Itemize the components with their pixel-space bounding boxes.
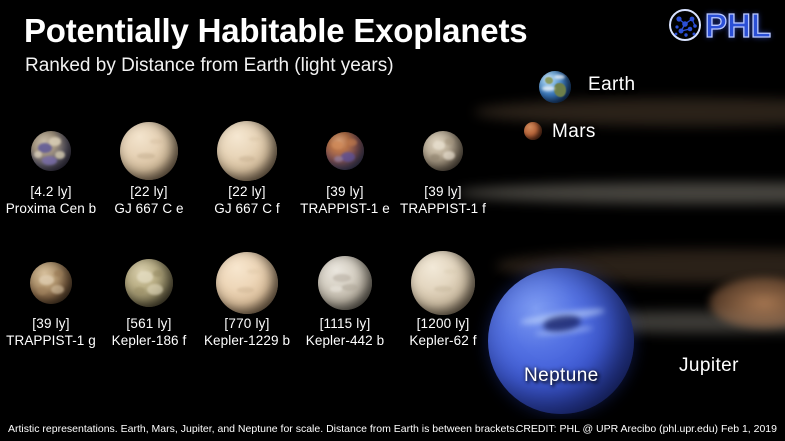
exoplanet-cell: [561 ly]Kepler-186 f xyxy=(100,250,198,349)
exoplanet-cell: [1115 ly]Kepler-442 b xyxy=(296,250,394,349)
infographic-canvas: Earth Mars Neptune Jupiter Potentially H… xyxy=(0,0,785,441)
exoplanet-sphere xyxy=(318,256,372,310)
exoplanet-surface-speck xyxy=(150,139,163,144)
exoplanet-cell: [4.2 ly]Proxima Cen b xyxy=(2,118,100,217)
exoplanet-distance-label: [1115 ly] xyxy=(296,316,394,332)
footer-credit: CREDIT: PHL @ UPR Arecibo (phl.upr.edu) … xyxy=(516,423,777,435)
exoplanet-surface-speck xyxy=(247,269,261,274)
page-title: Potentially Habitable Exoplanets xyxy=(24,12,527,50)
exoplanet-distance-label: [39 ly] xyxy=(2,316,100,332)
exoplanet-sphere-wrap xyxy=(296,118,394,184)
earth-landmass-1 xyxy=(554,83,566,96)
exoplanet-surface-speck xyxy=(239,156,256,162)
exoplanet-sphere-wrap xyxy=(394,250,492,316)
exoplanet-name-label: GJ 667 C e xyxy=(100,200,198,217)
exoplanet-sphere-wrap xyxy=(198,118,296,184)
footer-note: Artistic representations. Earth, Mars, J… xyxy=(8,423,517,435)
exoplanet-surface-speck xyxy=(330,286,342,291)
exoplanet-sphere xyxy=(31,131,71,171)
exoplanet-distance-label: [22 ly] xyxy=(198,184,296,200)
exoplanet-cell: [39 ly]TRAPPIST-1 f xyxy=(394,118,492,217)
exoplanet-surface-speck xyxy=(153,270,164,278)
exoplanet-sphere-wrap xyxy=(198,250,296,316)
exoplanet-name-label: GJ 667 C f xyxy=(198,200,296,217)
page-subtitle: Ranked by Distance from Earth (light yea… xyxy=(25,55,394,77)
exoplanet-sphere xyxy=(125,259,173,307)
earth-landmass-2 xyxy=(545,77,553,84)
phl-logo[interactable]: PHL xyxy=(668,8,771,42)
exoplanet-surface-speck xyxy=(34,151,42,158)
exoplanet-distance-label: [4.2 ly] xyxy=(2,184,100,200)
exoplanet-distance-label: [561 ly] xyxy=(100,316,198,332)
earth-cloud-1 xyxy=(542,86,555,91)
exoplanet-surface-speck xyxy=(333,274,351,282)
jupiter-band-2 xyxy=(457,182,785,204)
exoplanet-sphere xyxy=(120,122,178,180)
exoplanet-surface-speck xyxy=(49,137,61,146)
exoplanet-surface-speck xyxy=(39,275,53,285)
exoplanet-sphere-wrap xyxy=(296,250,394,316)
exoplanet-surface-speck xyxy=(434,286,452,292)
exoplanet-sphere xyxy=(411,251,475,315)
exoplanet-surface-speck xyxy=(445,138,454,144)
exoplanet-sphere xyxy=(216,252,278,314)
exoplanet-cell: [770 ly]Kepler-1229 b xyxy=(198,250,296,349)
exoplanet-cell: [1200 ly]Kepler-62 f xyxy=(394,250,492,349)
scale-label-jupiter: Jupiter xyxy=(679,355,739,377)
exoplanet-name-label: Kepler-442 b xyxy=(296,332,394,349)
exoplanet-sphere xyxy=(30,262,72,304)
exoplanet-cell: [22 ly]GJ 667 C e xyxy=(100,118,198,217)
exoplanet-surface-speck xyxy=(342,284,358,290)
jupiter-band-1 xyxy=(474,98,785,126)
exoplanet-surface-speck xyxy=(147,284,163,296)
exoplanet-surface-speck xyxy=(347,139,357,146)
exoplanet-sphere-wrap xyxy=(394,118,492,184)
exoplanet-surface-speck xyxy=(37,287,47,295)
mars-sphere xyxy=(524,122,542,140)
earth-cloud-2 xyxy=(554,75,565,79)
exoplanet-surface-speck xyxy=(55,151,65,159)
exoplanet-sphere xyxy=(326,132,364,170)
exoplanet-surface-speck xyxy=(42,156,56,165)
exoplanet-sphere-wrap xyxy=(100,118,198,184)
scale-label-mars: Mars xyxy=(552,121,596,143)
exoplanet-surface-speck xyxy=(137,271,153,283)
neptune-sphere xyxy=(488,268,634,414)
exoplanet-surface-speck xyxy=(444,269,458,274)
exoplanet-surface-speck xyxy=(237,287,254,293)
exoplanet-surface-speck xyxy=(443,151,455,160)
exoplanet-surface-speck xyxy=(334,156,343,163)
exoplanet-surface-speck xyxy=(51,285,64,294)
exoplanet-surface-speck xyxy=(341,152,355,162)
exoplanet-distance-label: [1200 ly] xyxy=(394,316,492,332)
footer-bar: Artistic representations. Earth, Mars, J… xyxy=(0,419,785,441)
phl-wordmark: PHL xyxy=(705,9,771,42)
exoplanet-surface-speck xyxy=(430,154,440,161)
exoplanet-surface-speck xyxy=(249,137,261,142)
exoplanet-surface-speck xyxy=(433,141,446,150)
exoplanet-surface-speck xyxy=(137,153,154,159)
exoplanet-distance-label: [39 ly] xyxy=(394,184,492,200)
exoplanet-sphere xyxy=(217,121,277,181)
exoplanet-surface-speck xyxy=(54,270,63,277)
scale-label-neptune: Neptune xyxy=(524,365,599,387)
exoplanet-distance-label: [770 ly] xyxy=(198,316,296,332)
phl-circle-network-icon xyxy=(668,8,702,42)
exoplanet-distance-label: [22 ly] xyxy=(100,184,198,200)
exoplanet-name-label: TRAPPIST-1 e xyxy=(296,200,394,217)
exoplanet-name-label: Kepler-62 f xyxy=(394,332,492,349)
exoplanet-sphere-wrap xyxy=(2,250,100,316)
exoplanet-name-label: TRAPPIST-1 g xyxy=(2,332,100,349)
exoplanet-cell: [39 ly]TRAPPIST-1 g xyxy=(2,250,100,349)
exoplanet-name-label: Proxima Cen b xyxy=(2,200,100,217)
exoplanet-distance-label: [39 ly] xyxy=(296,184,394,200)
exoplanet-surface-speck xyxy=(332,141,343,149)
exoplanet-name-label: Kepler-186 f xyxy=(100,332,198,349)
exoplanet-cell: [39 ly]TRAPPIST-1 e xyxy=(296,118,394,217)
exoplanet-sphere xyxy=(423,131,463,171)
exoplanet-surface-speck xyxy=(134,287,146,296)
exoplanet-name-label: TRAPPIST-1 f xyxy=(394,200,492,217)
earth-sphere xyxy=(539,71,571,103)
exoplanet-sphere-wrap xyxy=(2,118,100,184)
exoplanet-sphere-wrap xyxy=(100,250,198,316)
exoplanet-name-label: Kepler-1229 b xyxy=(198,332,296,349)
exoplanet-cell: [22 ly]GJ 667 C f xyxy=(198,118,296,217)
scale-label-earth: Earth xyxy=(588,74,635,96)
